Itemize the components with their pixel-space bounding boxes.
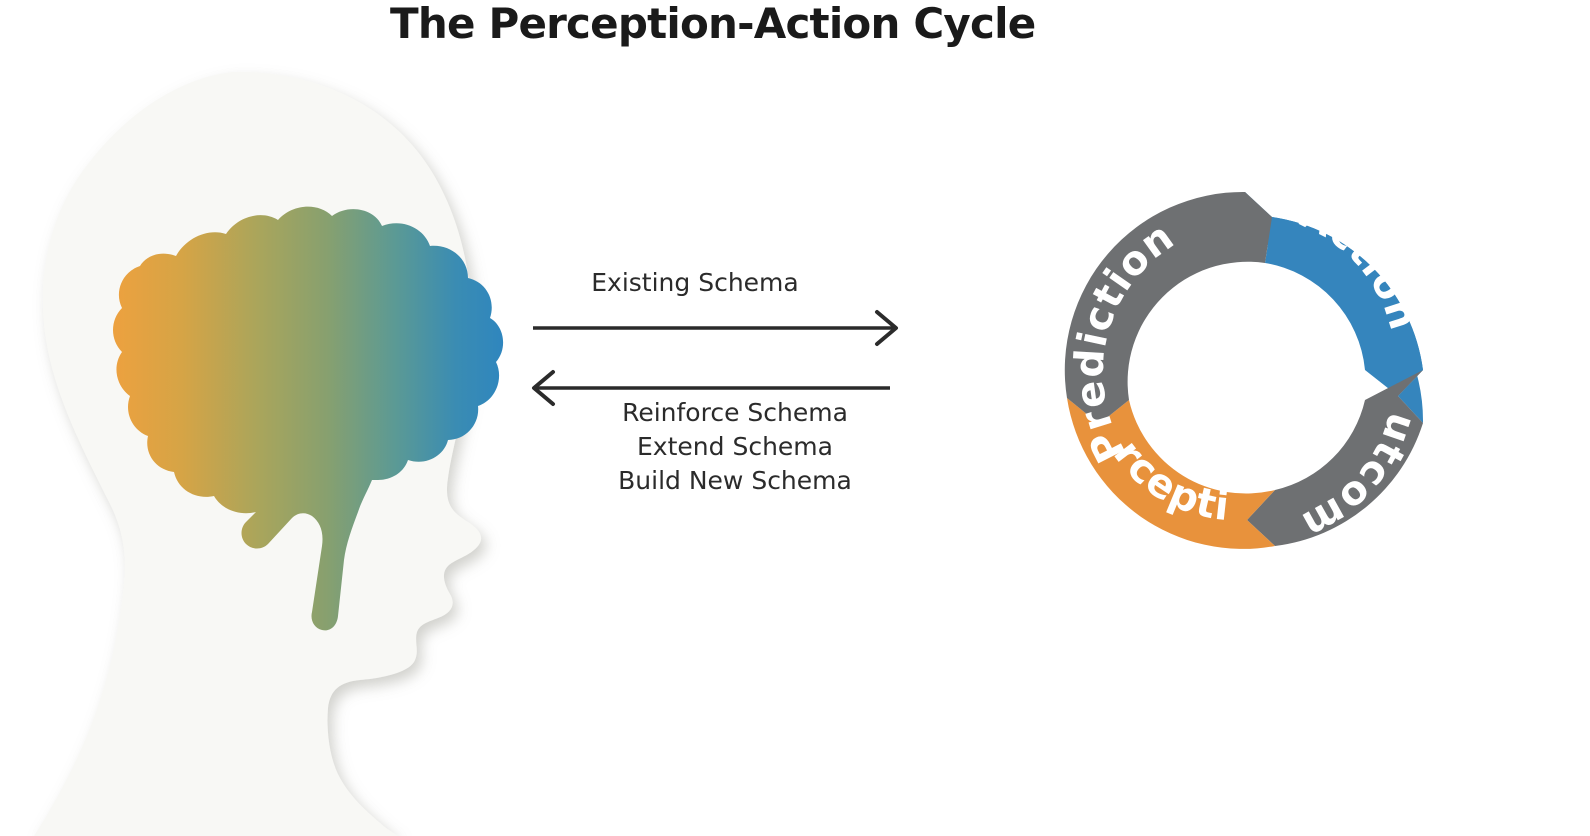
cycle-label-perception-text: Perception — [935, 30, 1232, 530]
existing-schema-label: Existing Schema — [505, 268, 925, 297]
schema-update-labels: Reinforce Schema Extend Schema Build New… — [505, 396, 925, 498]
extend-schema-label: Extend Schema — [545, 430, 925, 464]
diagram-canvas: The Perception-Action Cycle — [0, 0, 1590, 836]
forward-arrow-icon — [533, 312, 896, 344]
cycle-label-perception: Perception — [935, 30, 1232, 530]
perception-action-cycle: Action Outcome Perception Prediction — [935, 30, 1575, 720]
child-head-profile-with-brain — [0, 60, 520, 836]
schema-flow-arrows: Existing Schema Reinforce Schema Extend … — [505, 250, 925, 540]
reinforce-schema-label: Reinforce Schema — [545, 396, 925, 430]
build-new-schema-label: Build New Schema — [545, 464, 925, 498]
